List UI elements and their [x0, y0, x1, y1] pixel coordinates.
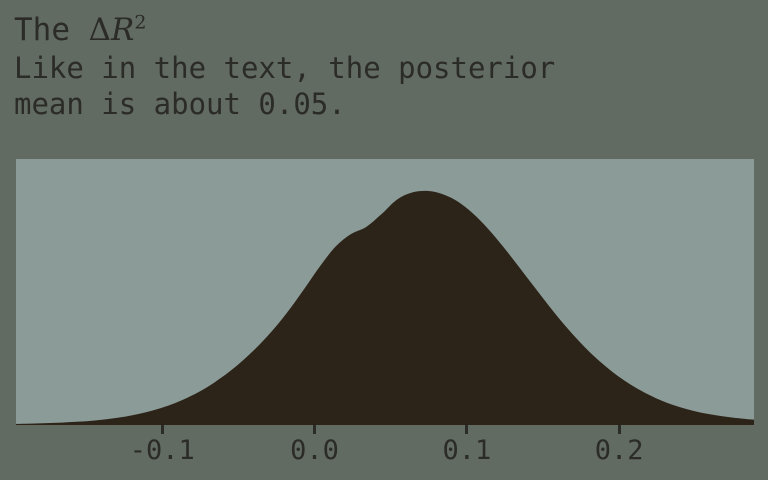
header-text-block: The ΔR2 Like in the text, the posterior … [14, 10, 754, 122]
title-exponent: 2 [134, 12, 146, 34]
title-prefix: The [14, 12, 89, 48]
density-curve [16, 159, 754, 425]
subtitle-line-2: mean is about 0.05. [14, 86, 754, 122]
x-tick-mark [161, 425, 164, 434]
page-title: The ΔR2 [14, 10, 754, 50]
x-tick-mark [313, 425, 316, 434]
x-tick-label: 0.2 [595, 435, 644, 467]
x-axis: -0.10.00.10.2 [0, 425, 768, 480]
x-tick-label: 0.0 [290, 435, 339, 467]
x-tick-mark [465, 425, 468, 434]
x-tick-label: -0.1 [130, 435, 195, 467]
r-symbol: R [111, 12, 134, 48]
delta-symbol: Δ [89, 12, 111, 48]
subtitle-line-1: Like in the text, the posterior [14, 50, 754, 86]
plot-area [16, 159, 754, 425]
title-math: ΔR2 [89, 12, 147, 48]
density-fill-path [16, 191, 754, 425]
figure-root: The ΔR2 Like in the text, the posterior … [0, 0, 768, 480]
x-tick-mark [618, 425, 621, 434]
x-tick-label: 0.1 [442, 435, 491, 467]
